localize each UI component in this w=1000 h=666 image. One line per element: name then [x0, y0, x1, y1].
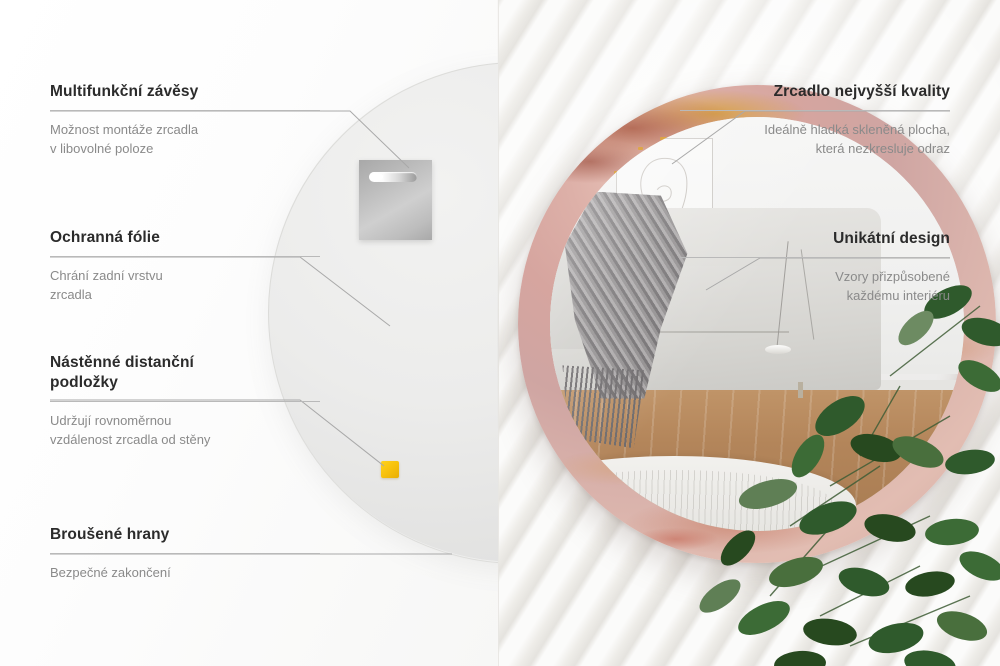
feature-rule: [680, 257, 950, 258]
feature-rule: [50, 256, 320, 257]
feature-rule: [50, 110, 320, 111]
feature-description: Možnost montáže zrcadla v libovolné polo…: [50, 120, 320, 159]
feature-ochranna-folie: Ochranná fólie Chrání zadní vrstvu zrcad…: [50, 228, 320, 305]
feature-multifunkcni-zavesy: Multifunkční závěsy Možnost montáže zrca…: [50, 82, 320, 159]
feature-description: Bezpečné zakončení: [50, 563, 320, 583]
feature-title: Multifunkční závěsy: [50, 82, 320, 102]
feature-title: Broušené hrany: [50, 525, 320, 545]
blanket-fringe: [562, 365, 645, 448]
feature-rule: [50, 553, 320, 554]
feature-zrcadlo-nejvyssi-kvality: Zrcadlo nejvyšší kvality Ideálně hladká …: [680, 82, 950, 159]
feature-title: Ochranná fólie: [50, 228, 320, 248]
infographic-canvas: Multifunkční závěsy Možnost montáže zrca…: [0, 0, 1000, 666]
feature-description: Udržují rovnoměrnou vzdálenost zrcadla o…: [50, 411, 320, 450]
feature-title: Zrcadlo nejvyšší kvality: [680, 82, 950, 102]
feature-unikatni-design: Unikátní design Vzory přizpůsobené každé…: [680, 229, 950, 306]
bracket-keyhole-slot: [369, 172, 417, 182]
feature-rule: [50, 401, 320, 402]
hanging-bracket: [359, 160, 432, 240]
feature-title: Unikátní design: [680, 229, 950, 249]
feature-rule: [680, 110, 950, 111]
feature-nastenne-distancni-podlozky: Nástěnné distanční podložky Udržují rovn…: [50, 353, 320, 450]
feature-title: Nástěnné distanční podložky: [50, 353, 250, 393]
feature-description: Chrání zadní vrstvu zrcadla: [50, 266, 320, 305]
yellow-spacer-pad: [381, 461, 399, 478]
feature-description: Ideálně hladká skleněná plocha, která ne…: [680, 120, 950, 159]
feature-brousene-hrany: Broušené hrany Bezpečné zakončení: [50, 525, 320, 582]
feature-description: Vzory přizpůsobené každému interiéru: [680, 267, 950, 306]
foliage-decoration: [680, 266, 1000, 666]
